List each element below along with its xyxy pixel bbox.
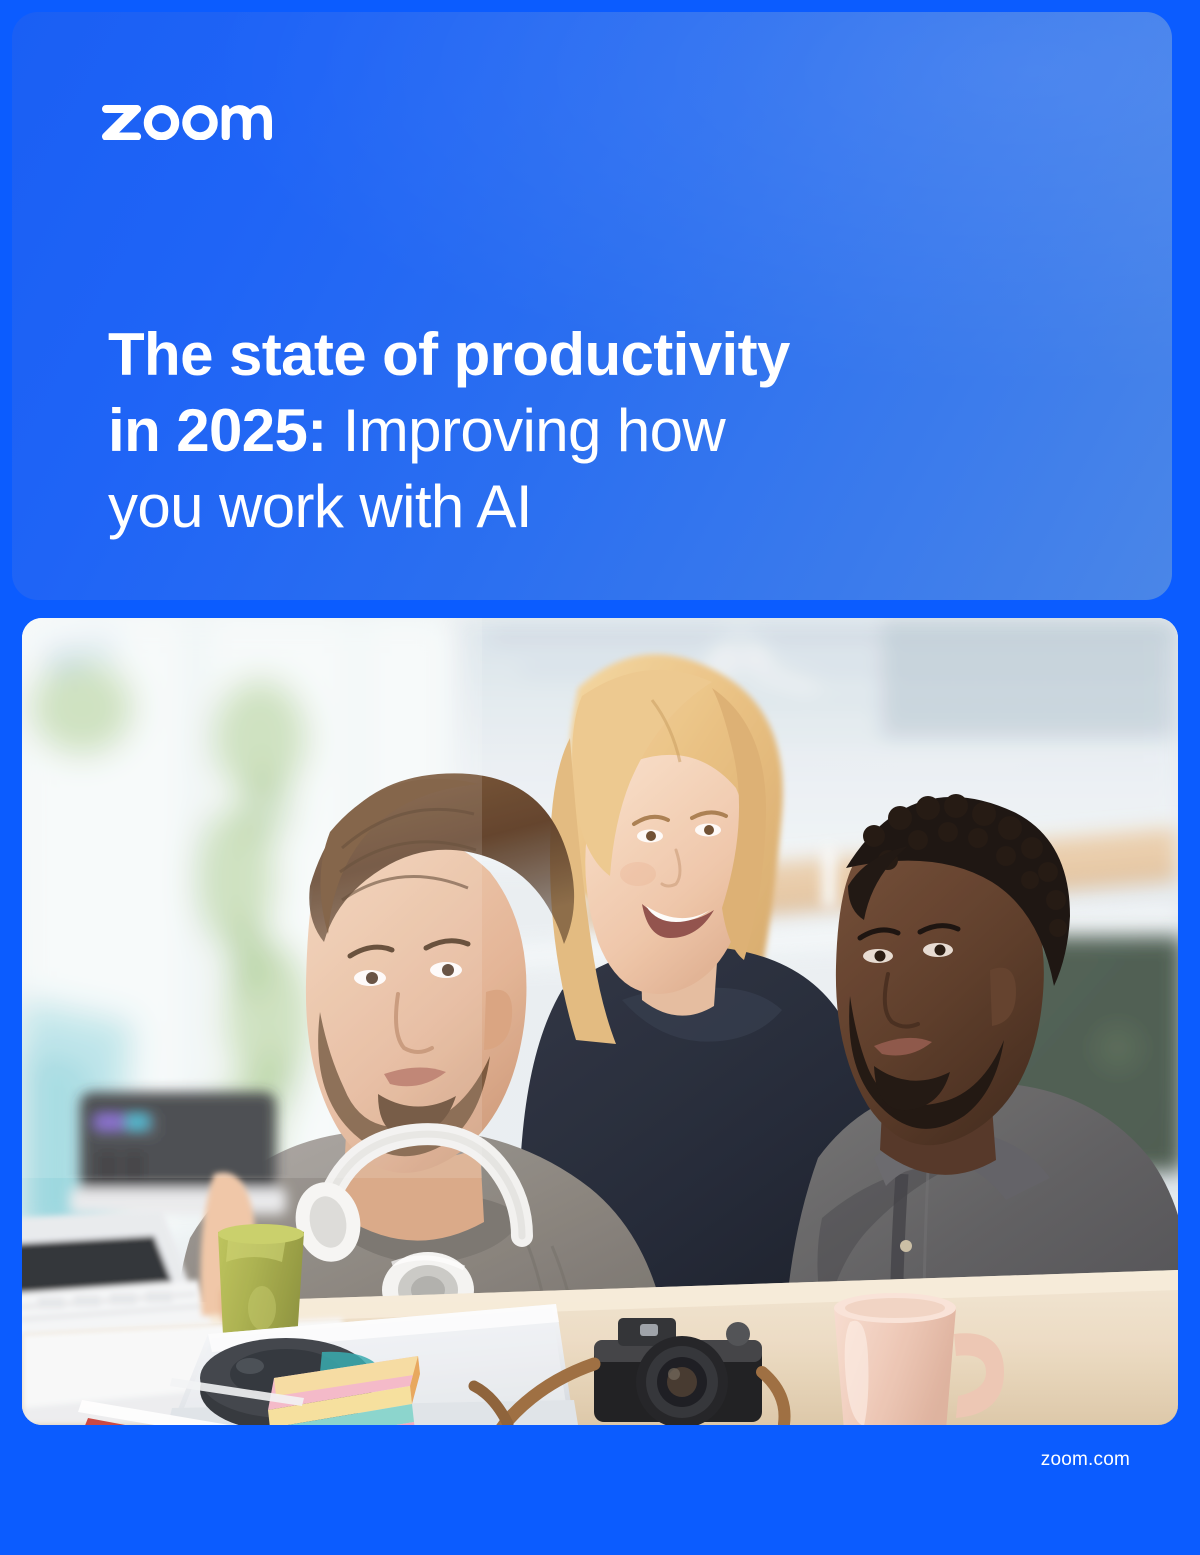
cover-page: The state of productivity in 2025: Impro… [0, 0, 1200, 1555]
footer-website-url[interactable]: zoom.com [1041, 1449, 1130, 1471]
title-line-1: The state of productivity [108, 317, 1008, 393]
title-line-2-regular: Improving how [327, 397, 725, 464]
cover-title: The state of productivity in 2025: Impro… [108, 317, 1008, 545]
title-line-2: in 2025: Improving how [108, 393, 1008, 469]
hero-panel: The state of productivity in 2025: Impro… [12, 12, 1172, 600]
title-line-3-regular: you work with AI [108, 473, 532, 540]
title-line-3: you work with AI [108, 469, 1008, 545]
title-line-2-bold: in 2025: [108, 397, 327, 464]
cover-photo [22, 618, 1178, 1425]
title-line-1-bold: The state of productivity [108, 321, 790, 388]
zoom-wordmark-logo[interactable] [102, 90, 272, 140]
